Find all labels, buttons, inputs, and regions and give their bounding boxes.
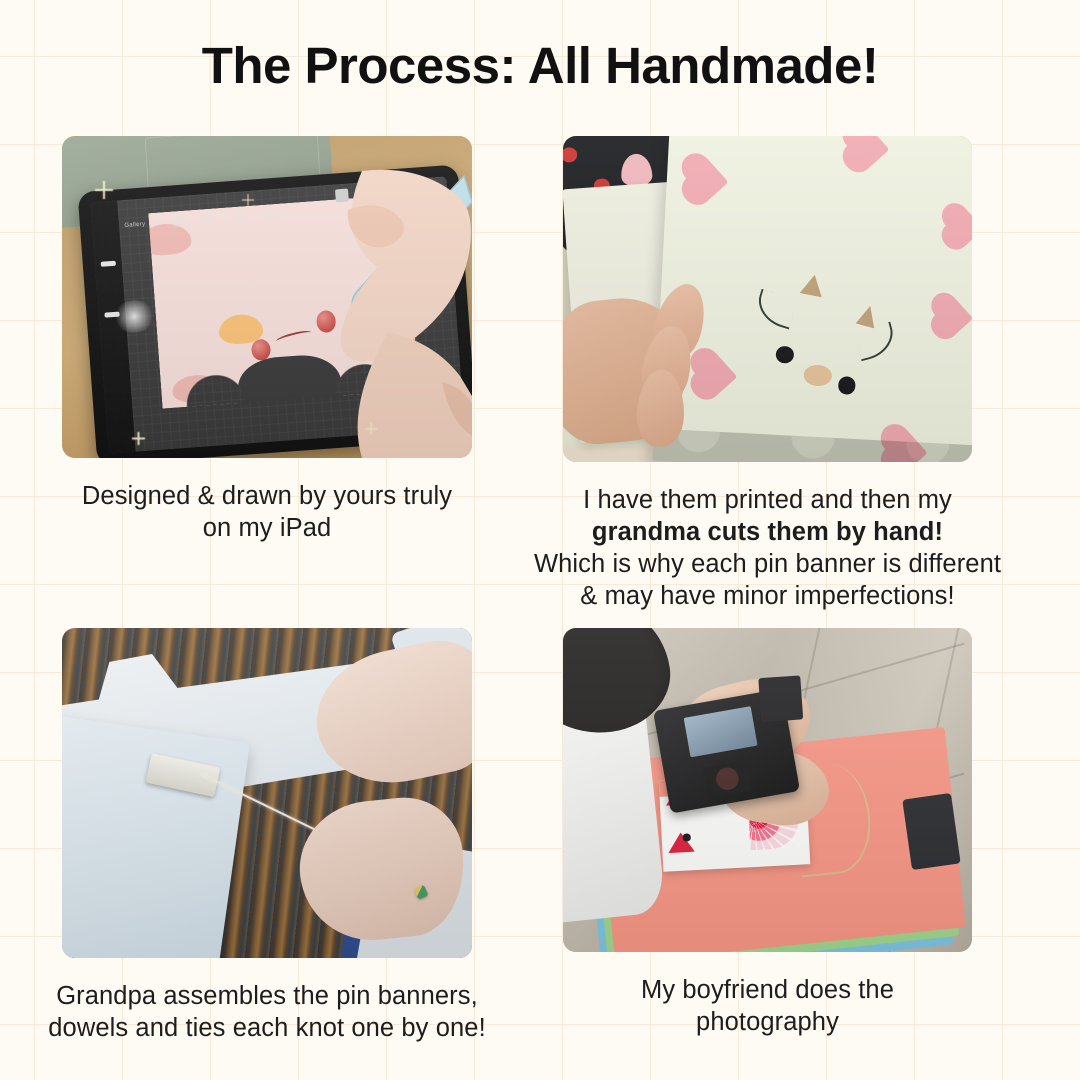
caption-line: Which is why each pin banner is differen… bbox=[488, 548, 1048, 580]
camera-top-plate bbox=[759, 675, 804, 721]
caption-design: Designed & drawn by yours truly on my iP… bbox=[0, 480, 547, 544]
fabric-heart bbox=[686, 160, 728, 202]
fabric-banner-left bbox=[62, 713, 250, 958]
caption-line: & may have minor imperfections! bbox=[488, 580, 1048, 612]
camera-lens bbox=[703, 760, 752, 798]
mat-cat-ear bbox=[620, 154, 653, 188]
cat-face-nose bbox=[803, 364, 833, 386]
fabric-heart bbox=[935, 298, 972, 336]
cat-face-eye-right bbox=[838, 376, 856, 394]
photo-fabric-cutting bbox=[563, 136, 972, 462]
process-step-photography: My boyfriend does the photography bbox=[563, 628, 972, 952]
fabric-scallop-edge bbox=[652, 429, 972, 462]
fabric-heart bbox=[695, 354, 737, 396]
cat-face-eye-left bbox=[776, 345, 794, 363]
process-step-assembly: Grandpa assembles the pin banners, dowel… bbox=[62, 628, 472, 958]
hand-holding-fabric bbox=[563, 292, 693, 449]
mat-berry bbox=[563, 148, 577, 164]
photo-ipad-design: Gallery bbox=[62, 136, 472, 458]
caption-assembly: Grandpa assembles the pin banners, dowel… bbox=[0, 980, 547, 1044]
fabric-triangle bbox=[800, 273, 826, 298]
cat-face-brow-right bbox=[853, 322, 898, 362]
photo-assembly bbox=[62, 628, 472, 958]
caption-line: on my iPad bbox=[0, 512, 547, 544]
process-step-design: Gallery bbox=[62, 136, 472, 458]
jade-ring bbox=[414, 884, 430, 900]
page-title: The Process: All Handmade! bbox=[0, 36, 1080, 95]
caption-line: Grandpa assembles the pin banners, bbox=[0, 980, 547, 1012]
caption-line: I have them printed and then my bbox=[488, 484, 1048, 516]
process-poster: The Process: All Handmade! bbox=[0, 0, 1080, 1080]
caption-line: My boyfriend does the bbox=[488, 974, 1048, 1006]
camera-lcd-screen bbox=[684, 707, 758, 758]
fabric-heart bbox=[847, 136, 889, 169]
caption-cutting: I have them printed and then my grandma … bbox=[488, 484, 1048, 612]
process-step-cutting: I have them printed and then my grandma … bbox=[563, 136, 972, 462]
hand-with-pencil bbox=[62, 136, 472, 458]
caption-line: photography bbox=[488, 1006, 1048, 1038]
caption-line-emphasis: grandma cuts them by hand! bbox=[488, 516, 1048, 548]
smartphone bbox=[902, 793, 961, 870]
fabric-heart bbox=[946, 208, 972, 246]
photo-photography bbox=[563, 628, 972, 952]
cat-face-brow-left bbox=[752, 288, 798, 329]
caption-photography: My boyfriend does the photography bbox=[488, 974, 1048, 1038]
caption-line: dowels and ties each knot one by one! bbox=[0, 1012, 547, 1044]
caption-line: Designed & drawn by yours truly bbox=[0, 480, 547, 512]
